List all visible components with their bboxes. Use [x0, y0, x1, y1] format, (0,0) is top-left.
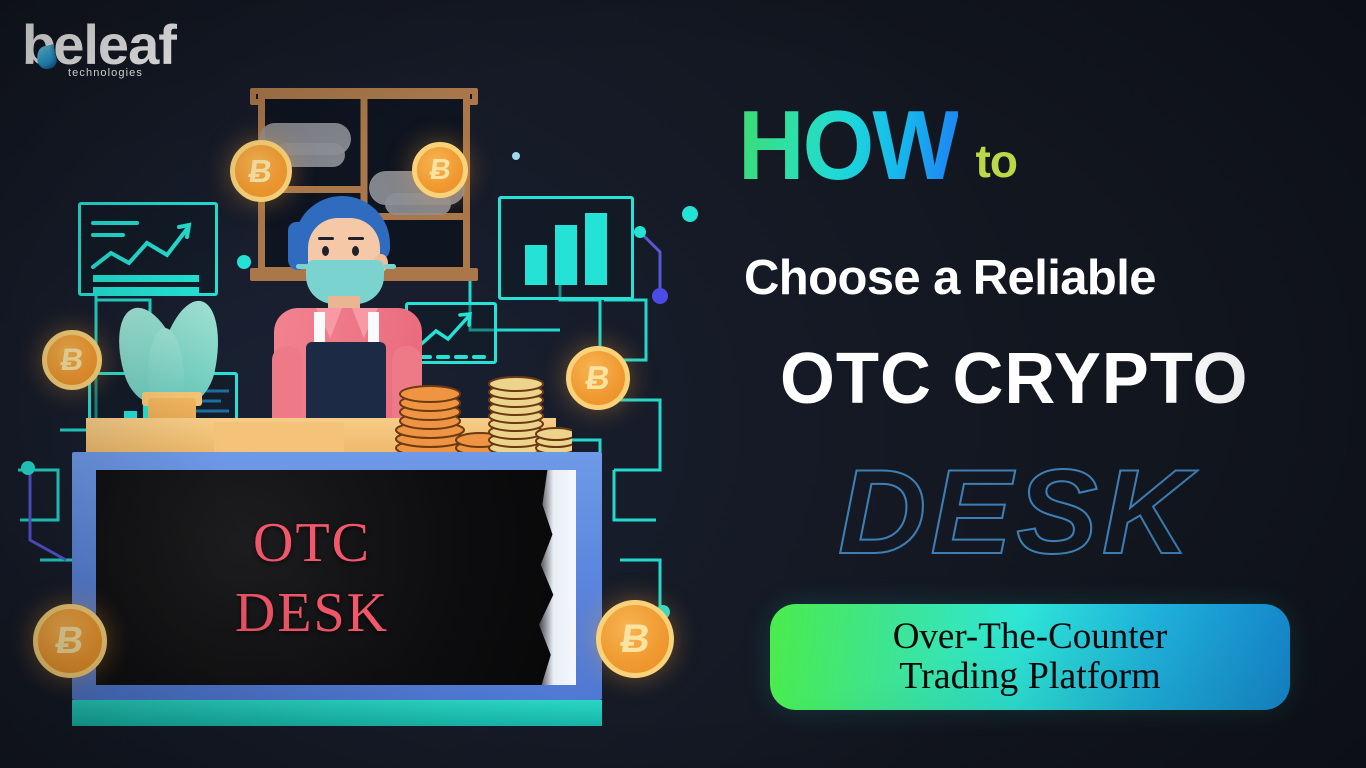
headline-column: HOW to Choose a Reliable OTC CRYPTO DESK…: [700, 0, 1366, 768]
headline-to: to: [976, 138, 1017, 184]
headline-how-row: HOW to: [738, 100, 1017, 190]
coin-stacks: [392, 352, 572, 456]
line-chart-panel-large: [78, 202, 218, 296]
bitcoin-coin-window-left: Ƀ: [230, 140, 292, 202]
banner-line-1: OTC: [253, 508, 371, 578]
coin-stack-gold-tall: [489, 377, 543, 455]
character-eye-left: [322, 246, 329, 256]
subtitle-badge-line-2: Trading Platform: [899, 656, 1160, 696]
bitcoin-coin-bottom-right: Ƀ: [596, 600, 674, 678]
otc-desk-illustration: OTC DESK Ƀ Ƀ Ƀ Ƀ Ƀ Ƀ: [0, 0, 704, 768]
bar-chart-graphic-right: [501, 199, 637, 303]
bitcoin-coin-window-right: Ƀ: [412, 142, 468, 198]
headline-otc-crypto: OTC CRYPTO: [780, 338, 1248, 420]
banner-line-2: DESK: [235, 578, 389, 648]
bitcoin-coin-bottom-left: Ƀ: [33, 604, 107, 678]
brand-logo-rest-text: eleaf: [53, 18, 176, 71]
headline-how: HOW: [738, 100, 957, 190]
character-brow-right: [348, 237, 364, 240]
face-mask-strap-right: [384, 264, 396, 269]
character-brow-left: [318, 237, 334, 240]
counter-top-inset: [214, 422, 344, 454]
brand-logo-tagline: technologies: [68, 67, 143, 79]
brand-logo-letter-b: b: [22, 18, 55, 71]
poster-canvas: b eleaf technologies: [0, 0, 1366, 768]
subtitle-badge-line-1: Over-The-Counter: [893, 617, 1168, 656]
bitcoin-coin-mid-left: Ƀ: [42, 330, 102, 390]
character-eye-right: [352, 246, 359, 256]
brand-logo-wordmark: b eleaf: [22, 18, 176, 71]
otc-desk-banner: OTC DESK: [96, 470, 576, 685]
headline-desk-outline: DESK: [838, 452, 1194, 572]
bitcoin-coin-mid-right: Ƀ: [566, 346, 630, 410]
character-hair-side: [288, 222, 308, 270]
coin-stack-orange: [396, 386, 464, 456]
headline-choose-a-reliable: Choose a Reliable: [744, 250, 1156, 306]
line-chart-graphic: [81, 205, 221, 299]
banner-text-block: OTC DESK: [96, 470, 576, 685]
coin-stack-gold-short: [536, 428, 572, 454]
bar-chart-panel-right: [498, 196, 634, 300]
subtitle-badge[interactable]: Over-The-Counter Trading Platform: [770, 604, 1290, 710]
face-mask-strap-left: [296, 264, 308, 269]
brand-logo[interactable]: b eleaf technologies: [22, 18, 176, 79]
counter-base-bar: [72, 700, 602, 726]
